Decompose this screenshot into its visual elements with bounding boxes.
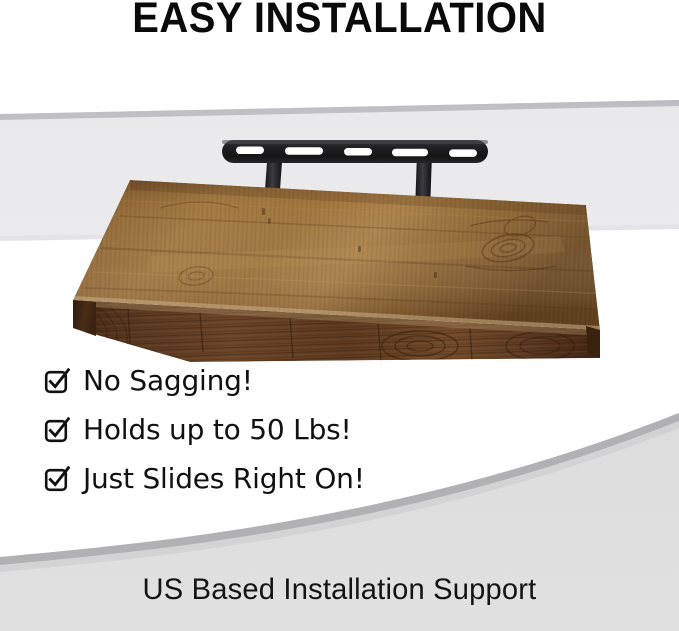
list-item: Holds up to 50 Lbs! xyxy=(44,405,504,454)
list-item: Just Slides Right On! xyxy=(44,454,504,503)
checkbox-checked-icon xyxy=(44,466,70,492)
checkbox-checked-icon xyxy=(44,368,70,394)
list-item: No Sagging! xyxy=(44,356,504,405)
product-feature-graphic: EASY INSTALLATION xyxy=(0,0,679,631)
list-item-label: Just Slides Right On! xyxy=(83,465,365,493)
footer-support-text: US Based Installation Support xyxy=(10,573,669,607)
list-item-label: Holds up to 50 Lbs! xyxy=(83,416,352,444)
page-title: EASY INSTALLATION xyxy=(24,0,655,41)
product-photo xyxy=(0,96,679,366)
list-item-label: No Sagging! xyxy=(83,367,253,395)
checkbox-checked-icon xyxy=(44,417,70,443)
feature-list: No Sagging! Holds up to 50 Lbs! Just Sli… xyxy=(44,356,504,503)
